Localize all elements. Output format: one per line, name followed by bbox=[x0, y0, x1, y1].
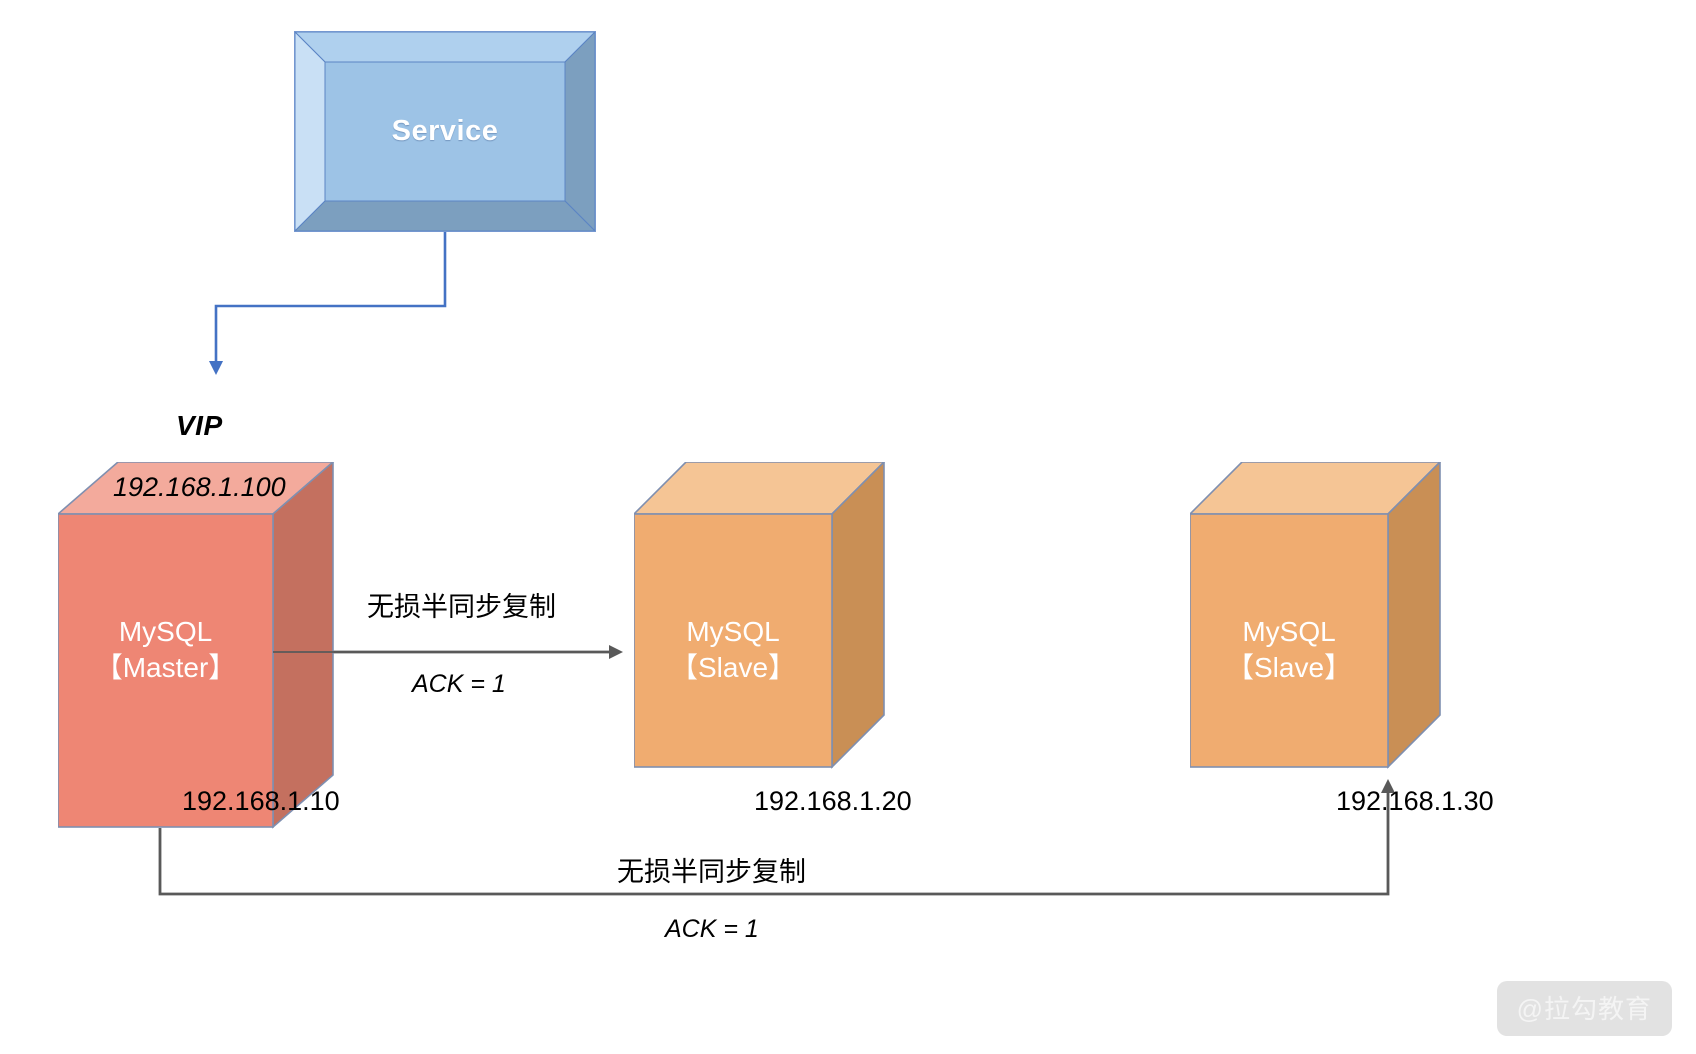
diagram-canvas: Service VIP MySQL 【Master】 192.168.1.100… bbox=[0, 0, 1696, 1054]
slave2-cube-shape bbox=[1190, 462, 1455, 774]
slave1-ip-label: 192.168.1.20 bbox=[754, 786, 912, 817]
slave2-ip-label: 192.168.1.30 bbox=[1336, 786, 1494, 817]
node-service[interactable]: Service bbox=[294, 31, 596, 232]
edge-label-master-slave1-top: 无损半同步复制 bbox=[367, 585, 556, 624]
master-ip-label: 192.168.1.10 bbox=[182, 786, 340, 817]
master-vip-address: 192.168.1.100 bbox=[113, 472, 286, 503]
node-mysql-slave-1[interactable]: MySQL 【Slave】 bbox=[634, 462, 899, 774]
edge-service-to-vip bbox=[216, 232, 445, 368]
node-mysql-slave-2[interactable]: MySQL 【Slave】 bbox=[1190, 462, 1455, 774]
edge-label-master-slave2-top: 无损半同步复制 bbox=[617, 850, 806, 889]
edge-label-master-slave1-ack: ACK = 1 bbox=[412, 670, 506, 699]
service-label: Service bbox=[294, 31, 596, 232]
slave1-cube-shape bbox=[634, 462, 899, 774]
edge-label-master-slave2-ack: ACK = 1 bbox=[665, 915, 759, 944]
vip-caption: VIP bbox=[176, 410, 223, 442]
watermark-badge: @拉勾教育 bbox=[1497, 981, 1672, 1036]
node-mysql-master[interactable]: MySQL 【Master】 bbox=[58, 462, 348, 834]
master-cube-shape bbox=[58, 462, 348, 834]
